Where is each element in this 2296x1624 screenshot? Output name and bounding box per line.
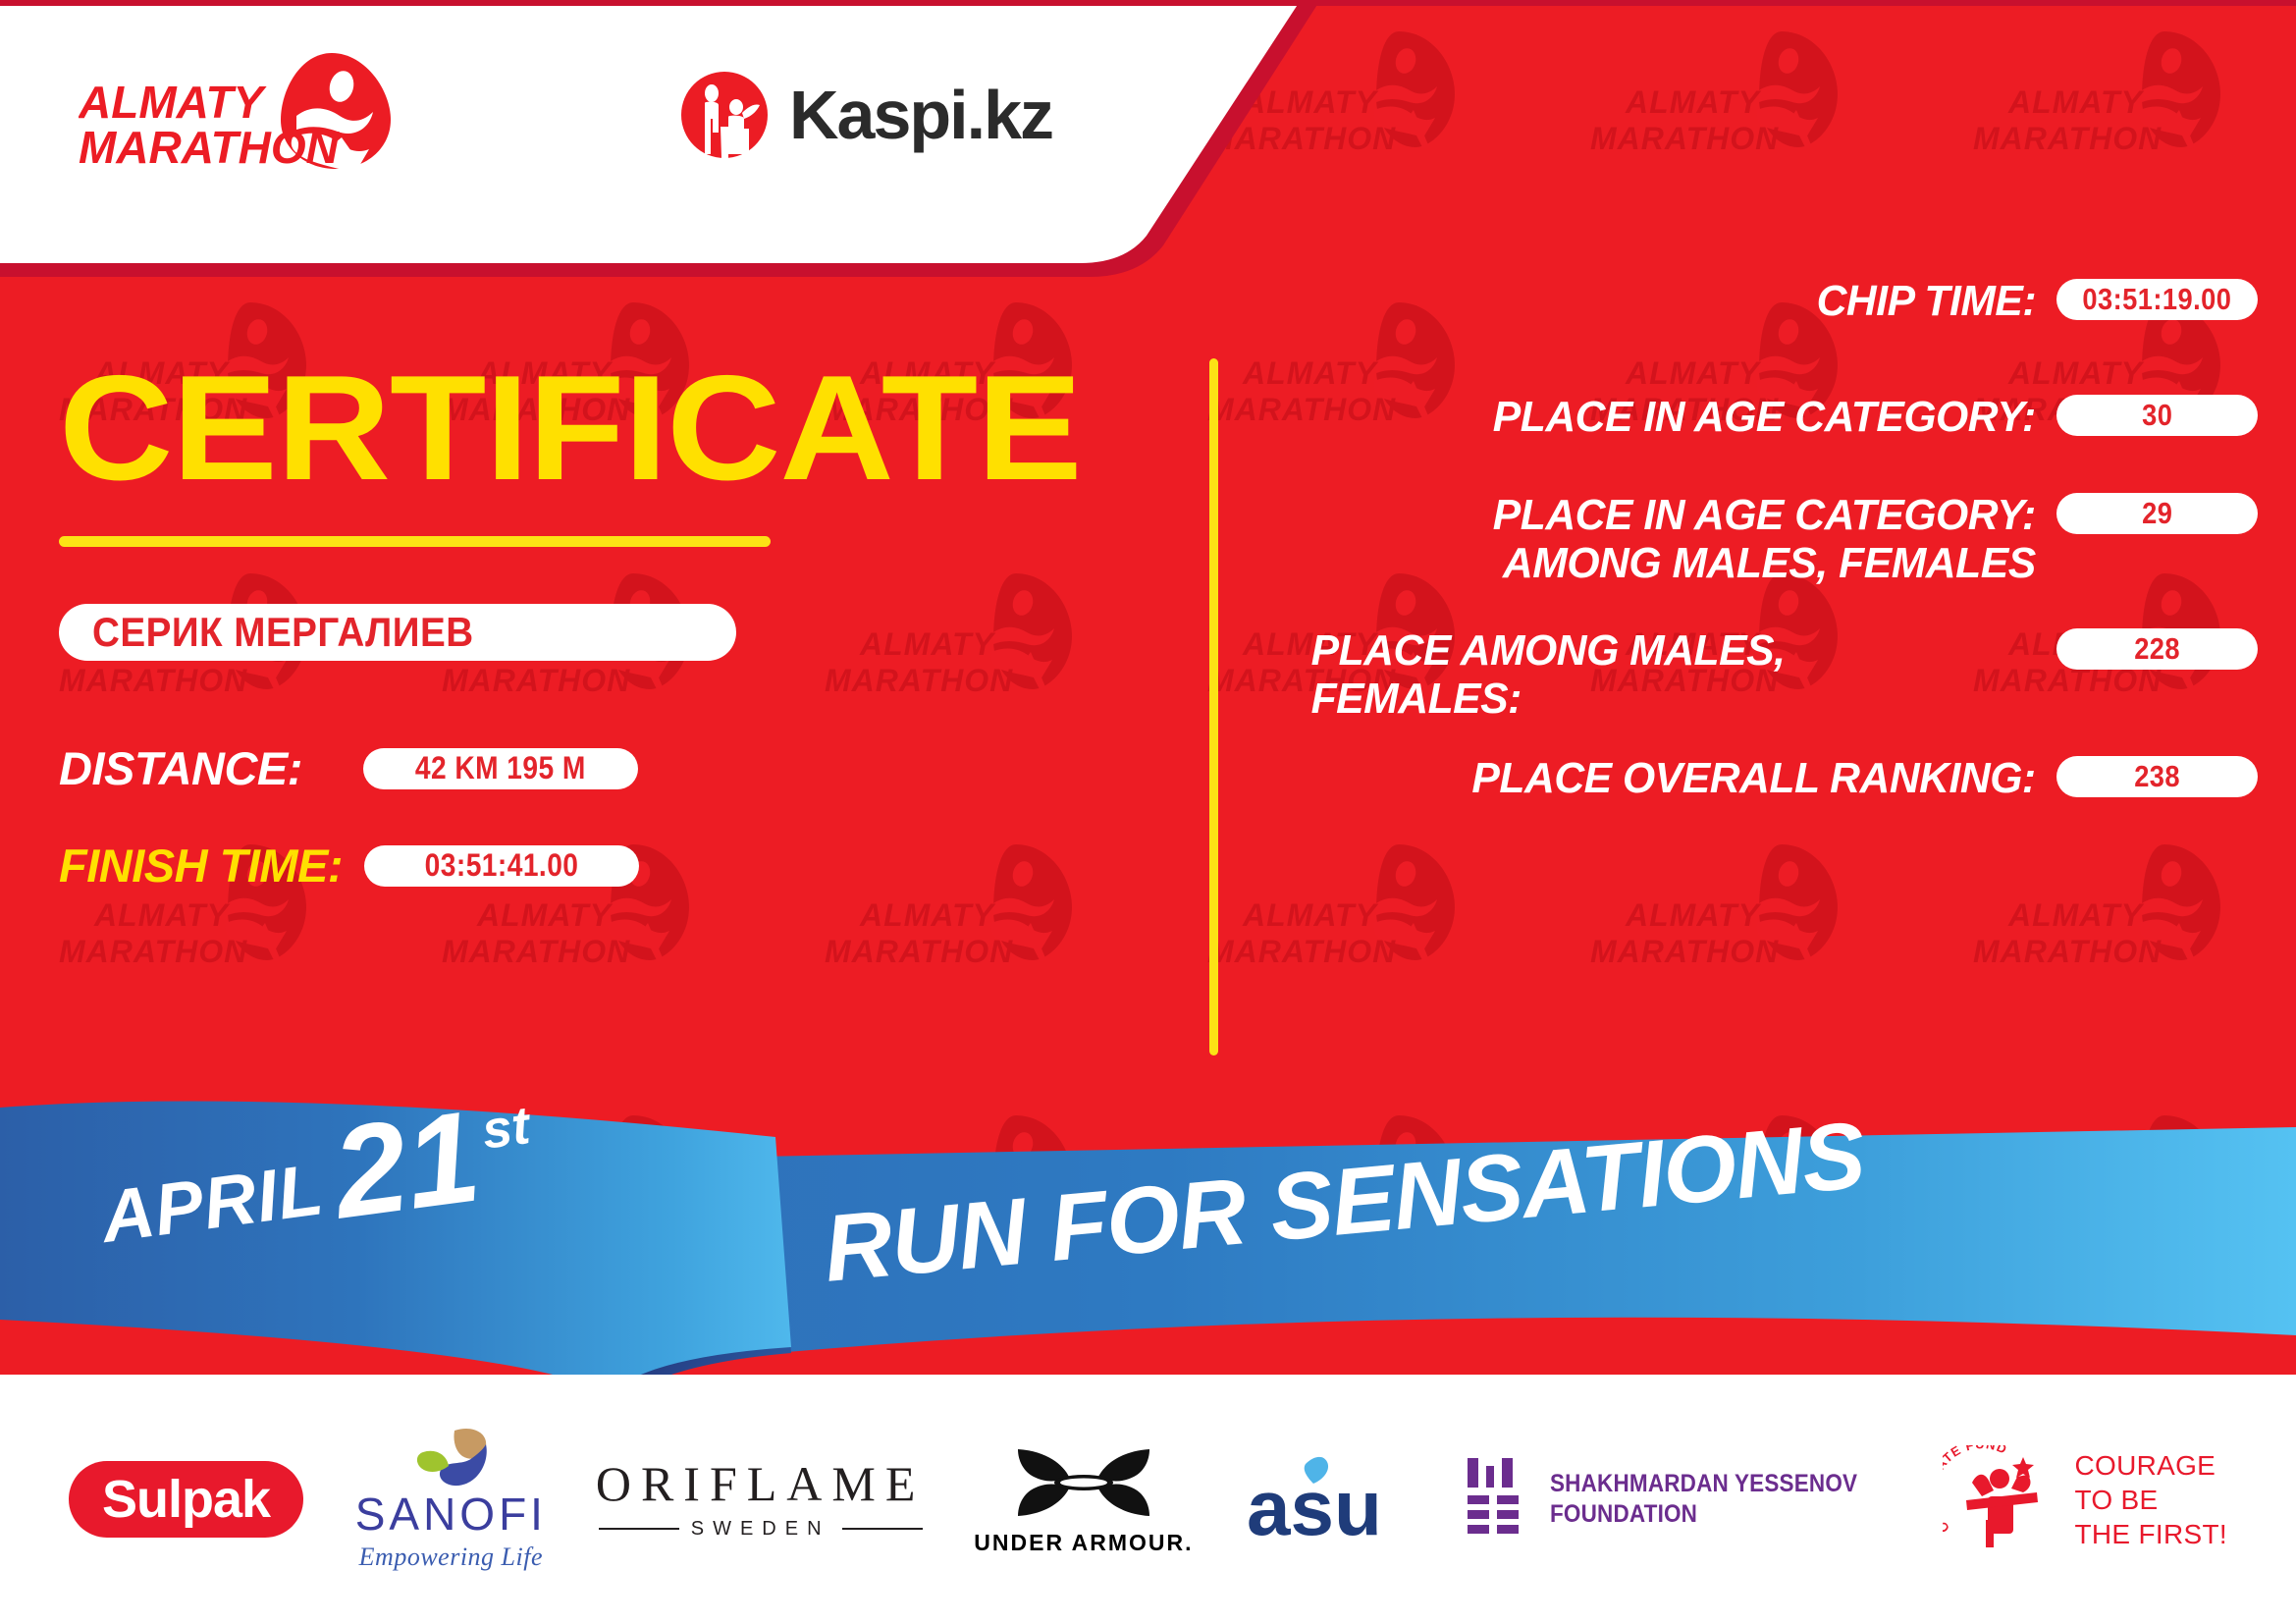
place-age-category-value: 30 <box>2142 398 2172 433</box>
sulpak-wordmark: Sulpak <box>102 1470 270 1529</box>
place-age-category-label: PLACE IN AGE CATEGORY: <box>1493 393 2056 441</box>
oriflame-tagline: SWEDEN <box>691 1518 830 1541</box>
courage-fund-mark-icon: CORPORATE FUND <box>1943 1445 2060 1553</box>
kaspi-logo: Kaspi.kz <box>677 61 1090 169</box>
under-armour-mark-icon <box>1010 1443 1157 1522</box>
yessenov-mark-icon <box>1464 1454 1528 1544</box>
sponsor-bar: Sulpak SANOFI Empowering Life ORIFLAME S… <box>0 1375 2296 1624</box>
finish-time-label: FINISH TIME: <box>59 839 343 893</box>
sponsor-under-armour: UNDER ARMOUR. <box>974 1443 1193 1556</box>
header-band: ALMATY MARATHON Kaspi.kz <box>0 0 2296 314</box>
finish-time-row: FINISH TIME: 03:51:41.00 <box>59 839 1139 893</box>
column-divider <box>1209 358 1218 1056</box>
place-overall-pill: 238 <box>2056 756 2258 797</box>
kaspi-mark-icon <box>677 68 772 162</box>
page-title: CERTIFICATE <box>59 353 1203 503</box>
distance-label: DISTANCE: <box>59 741 302 795</box>
oriflame-rule-right <box>842 1528 923 1530</box>
distance-value: 42 KM 195 M <box>415 750 586 786</box>
yessenov-wordmark-line2: FOUNDATION <box>1550 1499 1857 1530</box>
place-age-category-row: PLACE IN AGE CATEGORY: 30 <box>1296 393 2258 441</box>
certificate-body: CERTIFICATE СЕРИК МЕРГАЛИЕВ DISTANCE: 42… <box>0 295 2296 1159</box>
almaty-marathon-logo-line1: ALMATY <box>79 77 268 128</box>
place-among-gender-row: PLACE AMONG MALES, FEMALES: 228 <box>1296 626 2258 724</box>
ribbon-day: 21 <box>327 1098 485 1232</box>
participant-name-value: СЕРИК МЕРГАЛИЕВ <box>92 609 474 656</box>
left-column: CERTIFICATE СЕРИК МЕРГАЛИЕВ DISTANCE: 42… <box>59 353 1139 893</box>
place-age-category-gender-label: PLACE IN AGE CATEGORY: AMONG MALES, FEMA… <box>1493 491 2056 588</box>
place-age-category-gender-pill: 29 <box>2056 493 2258 534</box>
place-among-gender-pill: 228 <box>2056 628 2258 670</box>
place-overall-label: PLACE OVERALL RANKING: <box>1471 754 2056 802</box>
place-among-gender-label: PLACE AMONG MALES, FEMALES: <box>1311 626 1806 724</box>
sponsor-asu: asu <box>1245 1452 1412 1546</box>
almaty-marathon-logo-line2: MARATHON <box>79 122 340 173</box>
place-age-category-pill: 30 <box>2056 395 2258 436</box>
courage-line3: THE FIRST! <box>2074 1517 2226 1551</box>
top-accent-rule <box>0 0 2296 6</box>
sponsor-yessenov-foundation: SHAKHMARDAN YESSENOV FOUNDATION <box>1464 1454 1892 1544</box>
sponsor-courage-fund: CORPORATE FUND COURAGE TO BE <box>1943 1445 2226 1553</box>
place-age-category-gender-value: 29 <box>2142 496 2172 531</box>
sponsor-oriflame: ORIFLAME SWEDEN <box>599 1459 923 1541</box>
title-divider <box>59 536 771 547</box>
distance-row: DISTANCE: 42 KM 195 M <box>59 741 1139 795</box>
ribbon-day-suffix: st <box>479 1099 533 1158</box>
courage-line1: COURAGE <box>2074 1448 2226 1483</box>
oriflame-wordmark: ORIFLAME <box>596 1459 926 1508</box>
yessenov-wordmark-line1: SHAKHMARDAN YESSENOV <box>1550 1469 1857 1499</box>
finish-time-value: 03:51:41.00 <box>425 847 579 884</box>
participant-name-field: СЕРИК МЕРГАЛИЕВ <box>59 604 736 661</box>
sponsor-sanofi: SANOFI Empowering Life <box>355 1427 547 1572</box>
place-age-category-gender-row: PLACE IN AGE CATEGORY: AMONG MALES, FEMA… <box>1296 491 2258 588</box>
courage-line2: TO BE <box>2074 1483 2226 1517</box>
finish-time-pill: 03:51:41.00 <box>364 845 639 887</box>
kaspi-wordmark: Kaspi.kz <box>789 81 1052 149</box>
oriflame-subline: SWEDEN <box>599 1518 923 1541</box>
oriflame-rule-left <box>599 1528 679 1530</box>
sanofi-tagline: Empowering Life <box>359 1543 543 1572</box>
place-among-gender-value: 228 <box>2134 631 2180 667</box>
asu-wordmark: asu <box>1247 1464 1382 1546</box>
sanofi-wordmark: SANOFI <box>355 1491 547 1537</box>
asu-logo: asu <box>1245 1452 1412 1546</box>
certificate-canvas: ALMATY MARATHON <box>0 0 2296 1624</box>
place-overall-row: PLACE OVERALL RANKING: 238 <box>1296 754 2258 802</box>
almaty-marathon-logo: ALMATY MARATHON <box>79 47 402 175</box>
place-overall-value: 238 <box>2134 759 2180 794</box>
sponsor-sulpak: Sulpak <box>69 1461 303 1538</box>
sulpak-logo: Sulpak <box>69 1461 303 1538</box>
distance-pill: 42 KM 195 M <box>363 748 638 789</box>
under-armour-wordmark: UNDER ARMOUR. <box>974 1530 1193 1556</box>
sanofi-mark-icon <box>401 1427 500 1491</box>
